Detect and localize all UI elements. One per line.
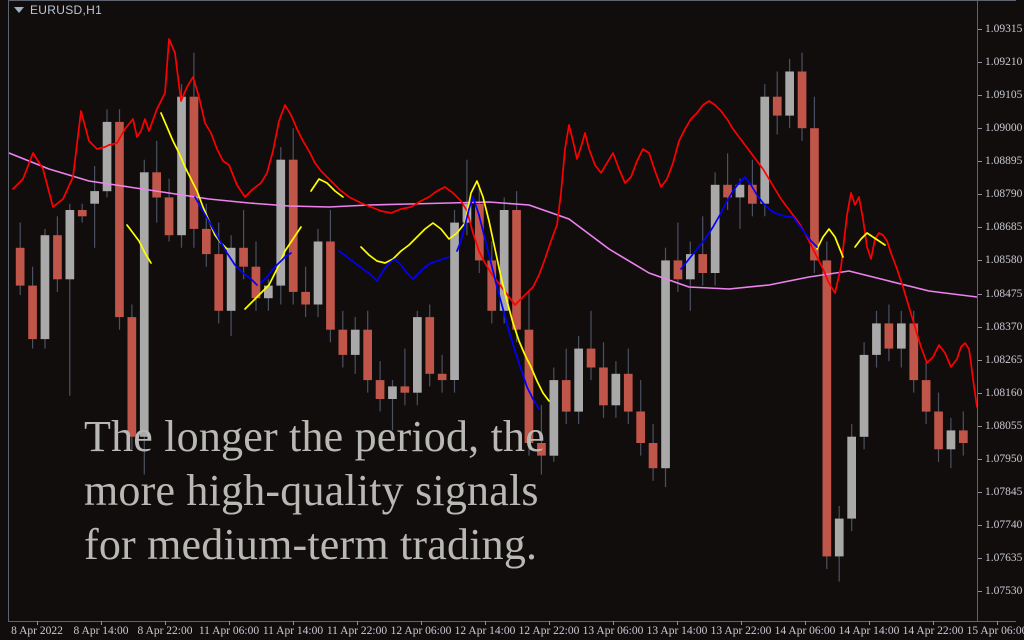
caption-line-3: for medium-term trading. — [84, 518, 545, 572]
price-tick-label: 1.08265 — [985, 354, 1022, 366]
time-tick-label: 14 Apr 06:00 — [775, 625, 836, 637]
time-tick-label: 11 Apr 22:00 — [327, 625, 387, 637]
price-tick — [978, 525, 982, 526]
chevron-down-icon[interactable] — [14, 7, 24, 13]
price-tick — [978, 194, 982, 195]
caption-line-2: more high-quality signals — [84, 464, 545, 518]
price-tick — [978, 327, 982, 328]
price-tick — [978, 95, 982, 96]
time-tick-label: 14 Apr 14:00 — [839, 625, 900, 637]
price-tick — [978, 62, 982, 63]
price-axis[interactable]: 1.093151.092101.091051.090001.088951.087… — [978, 0, 1024, 622]
price-tick-label: 1.09210 — [985, 56, 1022, 68]
price-tick — [978, 558, 982, 559]
price-tick-label: 1.07635 — [985, 552, 1022, 564]
time-tick-label: 8 Apr 14:00 — [74, 625, 129, 637]
price-tick-label: 1.08160 — [985, 387, 1022, 399]
price-tick-label: 1.08580 — [985, 254, 1022, 266]
time-tick-label: 12 Apr 14:00 — [455, 625, 516, 637]
caption-overlay: The longer the period, the more high-qua… — [84, 410, 545, 572]
price-tick-label: 1.07845 — [985, 486, 1022, 498]
price-tick — [978, 591, 982, 592]
symbol-bar[interactable]: EURUSD,H1 — [14, 3, 102, 17]
price-tick-label: 1.08685 — [985, 221, 1022, 233]
price-tick-label: 1.07740 — [985, 519, 1022, 531]
chart-window: EURUSD,H1 1.093151.092101.091051.090001.… — [0, 0, 1024, 640]
time-tick-label: 11 Apr 06:00 — [199, 625, 259, 637]
red-oscillator — [13, 39, 977, 407]
time-tick-label: 12 Apr 06:00 — [391, 625, 452, 637]
symbol-label: EURUSD,H1 — [30, 3, 102, 17]
time-tick-label: 13 Apr 22:00 — [711, 625, 772, 637]
time-tick-label: 13 Apr 14:00 — [647, 625, 708, 637]
caption-line-1: The longer the period, the — [84, 410, 545, 464]
time-tick-label: 14 Apr 22:00 — [903, 625, 964, 637]
price-tick-label: 1.07950 — [985, 453, 1022, 465]
time-tick-label: 11 Apr 14:00 — [263, 625, 323, 637]
price-tick-label: 1.07530 — [985, 585, 1022, 597]
price-tick-label: 1.09105 — [985, 89, 1022, 101]
price-tick-label: 1.08895 — [985, 155, 1022, 167]
price-tick — [978, 128, 982, 129]
price-tick-label: 1.08790 — [985, 188, 1022, 200]
price-tick — [978, 459, 982, 460]
time-tick-label: 8 Apr 2022 — [11, 625, 63, 637]
time-tick-label: 8 Apr 22:00 — [138, 625, 193, 637]
time-tick-label: 12 Apr 22:00 — [519, 625, 580, 637]
price-tick-label: 1.08475 — [985, 288, 1022, 300]
price-tick — [978, 227, 982, 228]
time-axis[interactable]: 8 Apr 20228 Apr 14:008 Apr 22:0011 Apr 0… — [0, 622, 1024, 640]
price-tick — [978, 393, 982, 394]
price-tick-label: 1.09000 — [985, 122, 1022, 134]
price-tick — [978, 260, 982, 261]
price-tick — [978, 161, 982, 162]
price-tick — [978, 426, 982, 427]
price-tick — [978, 360, 982, 361]
price-tick — [978, 492, 982, 493]
price-tick-label: 1.08055 — [985, 420, 1022, 432]
price-tick-label: 1.08370 — [985, 321, 1022, 333]
price-tick — [978, 29, 982, 30]
price-tick-label: 1.09315 — [985, 23, 1022, 35]
time-tick-label: 13 Apr 06:00 — [583, 625, 644, 637]
price-tick — [978, 294, 982, 295]
time-tick-label: 15 Apr 06:00 — [967, 625, 1024, 637]
